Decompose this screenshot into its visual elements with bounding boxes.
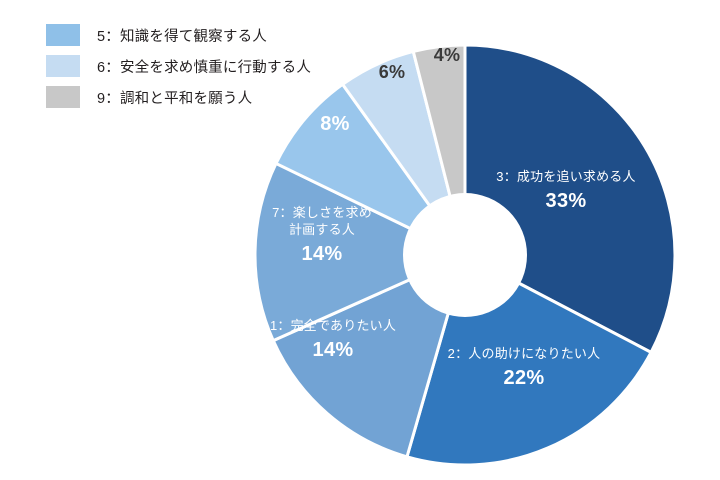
donut-hole <box>403 193 527 317</box>
legend-item-5[interactable]: 5：知識を得て観察する人 <box>46 24 311 46</box>
legend-swatch-5 <box>46 24 80 46</box>
pie-chart: 5：知識を得て観察する人 6：安全を求め慎重に行動する人 9：調和と平和を願う人… <box>0 0 720 480</box>
donut-chart-area <box>255 45 675 465</box>
legend-swatch-9 <box>46 86 80 108</box>
legend-label-9: 9：調和と平和を願う人 <box>97 87 252 108</box>
donut-svg <box>255 45 675 465</box>
legend-swatch-6 <box>46 55 80 77</box>
legend-label-5: 5：知識を得て観察する人 <box>97 25 267 46</box>
